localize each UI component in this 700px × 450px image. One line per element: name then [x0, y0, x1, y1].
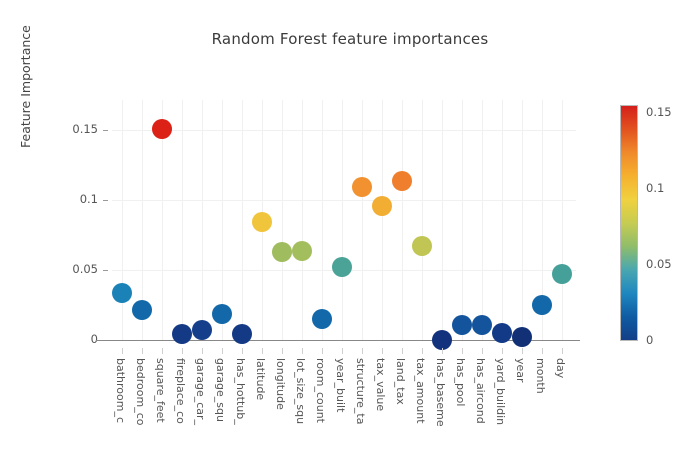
scatter-point[interactable]: [352, 177, 372, 197]
gridline-vertical: [302, 100, 303, 340]
x-axis-tick-mark: [142, 348, 143, 354]
x-axis-tick-label: latitude: [254, 358, 267, 400]
gridline-vertical: [182, 100, 183, 340]
chart-title: Random Forest feature importances: [0, 30, 700, 48]
x-axis-tick-mark: [502, 348, 503, 354]
x-axis-tick-label: longitude: [274, 358, 287, 410]
y-axis-tick-mark: [103, 130, 108, 131]
scatter-point[interactable]: [332, 257, 352, 277]
x-axis-tick-label: month: [534, 358, 547, 394]
y-axis-title: Feature Importance: [18, 25, 33, 148]
scatter-point[interactable]: [272, 242, 292, 262]
x-axis-tick-label: bathroom_c: [114, 358, 127, 423]
scatter-point[interactable]: [512, 327, 532, 347]
x-axis-tick-label: garage_car_: [194, 358, 207, 425]
x-axis-tick-mark: [322, 348, 323, 354]
x-axis-tick-label: structure_ta: [354, 358, 367, 424]
gridline-vertical: [242, 100, 243, 340]
x-axis-tick-mark: [422, 348, 423, 354]
x-axis-tick-mark: [182, 348, 183, 354]
y-axis-tick-label: 0.15: [38, 122, 98, 136]
gridline-vertical: [522, 100, 523, 340]
x-axis-tick-label: year_built: [334, 358, 347, 412]
scatter-point[interactable]: [552, 264, 572, 284]
scatter-point[interactable]: [472, 315, 492, 335]
x-axis-tick-label: yard_buildin: [494, 358, 507, 425]
y-axis-tick-mark: [103, 270, 108, 271]
x-axis-tick-label: room_count: [314, 358, 327, 423]
x-axis-tick-label: land_tax: [394, 358, 407, 405]
scatter-point[interactable]: [492, 323, 512, 343]
x-axis-tick-label: tax_value: [374, 358, 387, 411]
x-axis-tick-mark: [562, 348, 563, 354]
x-axis-tick-label: square_feet: [154, 358, 167, 423]
scatter-point[interactable]: [212, 304, 232, 324]
gridline-vertical: [322, 100, 323, 340]
scatter-point[interactable]: [312, 309, 332, 329]
x-axis-tick-mark: [202, 348, 203, 354]
scatter-point[interactable]: [292, 241, 312, 261]
scatter-point[interactable]: [172, 324, 192, 344]
colorbar-gradient: [621, 106, 637, 340]
y-axis-tick-label: 0: [38, 332, 98, 346]
x-axis-tick-mark: [442, 348, 443, 354]
colorbar-tick-label: 0.05: [646, 257, 672, 271]
colorbar-tick-label: 0.15: [646, 105, 672, 119]
gridline-vertical: [482, 100, 483, 340]
x-axis-tick-mark: [302, 348, 303, 354]
y-axis-tick-label: 0.1: [38, 192, 98, 206]
gridline-vertical: [122, 100, 123, 340]
x-axis-tick-mark: [542, 348, 543, 354]
x-axis-tick-mark: [242, 348, 243, 354]
plot-area: [112, 100, 576, 340]
x-axis-tick-label: has_hottub_: [234, 358, 247, 425]
y-axis-tick-mark: [103, 200, 108, 201]
x-axis-tick-mark: [482, 348, 483, 354]
gridline-vertical: [402, 100, 403, 340]
x-axis-tick-label: bedroom_co: [134, 358, 147, 425]
chart-figure: Random Forest feature importances Featur…: [0, 0, 700, 450]
gridline-vertical: [502, 100, 503, 340]
x-axis-tick-mark: [522, 348, 523, 354]
scatter-point[interactable]: [132, 300, 152, 320]
x-axis-tick-mark: [362, 348, 363, 354]
x-axis-tick-label: has_aircond: [474, 358, 487, 424]
gridline-vertical: [202, 100, 203, 340]
scatter-point[interactable]: [232, 324, 252, 344]
colorbar: [620, 105, 638, 341]
x-axis-tick-mark: [462, 348, 463, 354]
gridline-vertical: [422, 100, 423, 340]
gridline-vertical: [442, 100, 443, 340]
x-axis-tick-label: tax_amount: [414, 358, 427, 424]
scatter-point[interactable]: [452, 315, 472, 335]
scatter-point[interactable]: [252, 212, 272, 232]
gridline-vertical: [562, 100, 563, 340]
x-axis-tick-label: day: [554, 358, 567, 378]
x-axis-tick-label: year: [514, 358, 527, 383]
gridline-vertical: [282, 100, 283, 340]
scatter-point[interactable]: [532, 295, 552, 315]
gridline-vertical: [342, 100, 343, 340]
x-axis-tick-label: has_pool: [454, 358, 467, 406]
scatter-point[interactable]: [112, 283, 132, 303]
x-axis-tick-mark: [162, 348, 163, 354]
gridline-vertical: [362, 100, 363, 340]
scatter-point[interactable]: [392, 171, 412, 191]
y-axis-tick-label: 0.05: [38, 262, 98, 276]
x-axis-tick-labels: bathroom_cbedroom_cosquare_feetfireplace…: [0, 348, 600, 450]
x-axis-tick-mark: [262, 348, 263, 354]
x-axis-tick-mark: [382, 348, 383, 354]
x-axis-tick-label: has_baseme: [434, 358, 447, 427]
x-axis-tick-mark: [402, 348, 403, 354]
x-axis-tick-mark: [122, 348, 123, 354]
scatter-point[interactable]: [432, 330, 452, 350]
x-axis-tick-mark: [282, 348, 283, 354]
gridline-vertical: [382, 100, 383, 340]
x-axis-tick-mark: [222, 348, 223, 354]
scatter-point[interactable]: [412, 236, 432, 256]
colorbar-tick-label: 0.1: [646, 181, 664, 195]
x-axis-tick-mark: [342, 348, 343, 354]
scatter-point[interactable]: [192, 320, 212, 340]
x-axis-tick-label: fireplace_co: [174, 358, 187, 424]
gridline-vertical: [462, 100, 463, 340]
x-axis-tick-label: lot_size_squ: [294, 358, 307, 424]
scatter-point[interactable]: [372, 196, 392, 216]
scatter-point[interactable]: [152, 119, 172, 139]
colorbar-tick-label: 0: [646, 333, 653, 347]
x-axis-tick-label: garage_squ: [214, 358, 227, 422]
